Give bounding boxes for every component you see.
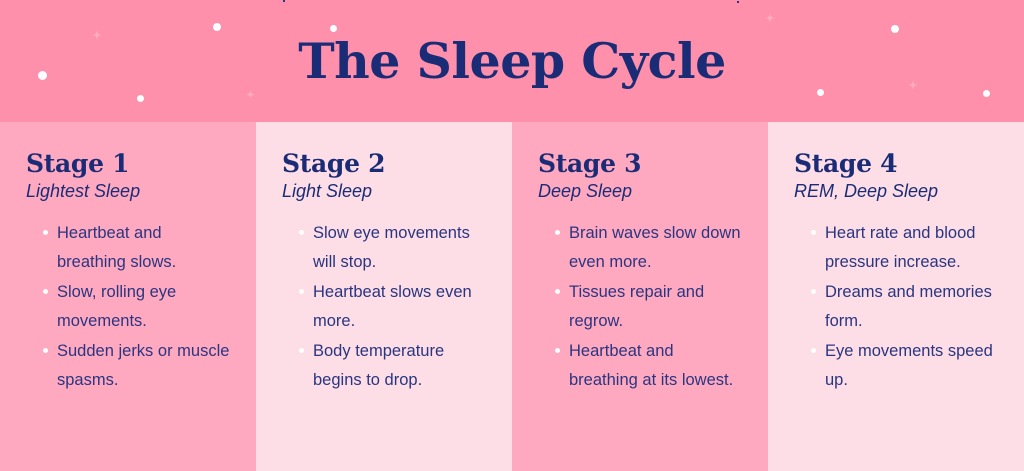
list-item: Heart rate and blood pressure increase. — [811, 219, 1002, 277]
stage-column-4: Stage 4REM, Deep SleepHeart rate and blo… — [768, 122, 1024, 471]
stage-subtitle-2: Light Sleep — [282, 182, 490, 202]
list-item: Eye movements speed up. — [811, 337, 1002, 395]
bullet-text: Eye movements speed up. — [825, 342, 993, 389]
stage-title-1: Stage 1 — [26, 151, 234, 178]
bullet-text: Heartbeat and breathing at its lowest. — [569, 342, 733, 389]
list-item: Dreams and memories form. — [811, 278, 1002, 336]
stage-bullet-list-2: Slow eye movements will stop.Heartbeat s… — [282, 219, 490, 394]
bullet-dot-icon — [555, 348, 560, 353]
list-item: Body temperature begins to drop. — [299, 337, 490, 395]
list-item: Heartbeat slows even more. — [299, 278, 490, 336]
stage-bullet-list-4: Heart rate and blood pressure increase.D… — [794, 219, 1002, 394]
top-artifact-pixel-left — [283, 0, 285, 2]
top-artifact-pixel-right — [737, 1, 739, 3]
bullet-dot-icon — [43, 348, 48, 353]
stage-subtitle-1: Lightest Sleep — [26, 182, 234, 202]
list-item: Heartbeat and breathing at its lowest. — [555, 337, 746, 395]
bullet-text: Slow, rolling eye movements. — [57, 283, 176, 330]
stage-subtitle-4: REM, Deep Sleep — [794, 182, 1002, 202]
bullet-dot-icon — [555, 289, 560, 294]
bullet-text: Heartbeat and breathing slows. — [57, 224, 176, 271]
bullet-dot-icon — [811, 348, 816, 353]
stage-column-2: Stage 2Light SleepSlow eye movements wil… — [256, 122, 512, 471]
stage-subtitle-3: Deep Sleep — [538, 182, 746, 202]
bullet-dot-icon — [43, 230, 48, 235]
bullet-text: Tissues repair and regrow. — [569, 283, 704, 330]
bullet-dot-icon — [299, 289, 304, 294]
header-band: The Sleep Cycle — [0, 0, 1024, 122]
bullet-dot-icon — [811, 230, 816, 235]
stage-bullet-list-1: Heartbeat and breathing slows.Slow, roll… — [26, 219, 234, 394]
page-title: The Sleep Cycle — [0, 0, 1024, 122]
bullet-dot-icon — [299, 230, 304, 235]
stage-title-4: Stage 4 — [794, 151, 1002, 178]
list-item: Slow eye movements will stop. — [299, 219, 490, 277]
bullet-text: Body temperature begins to drop. — [313, 342, 444, 389]
stage-column-3: Stage 3Deep SleepBrain waves slow down e… — [512, 122, 768, 471]
bullet-text: Heart rate and blood pressure increase. — [825, 224, 975, 271]
bullet-text: Brain waves slow down even more. — [569, 224, 741, 271]
bullet-text: Dreams and memories form. — [825, 283, 992, 330]
list-item: Slow, rolling eye movements. — [43, 278, 234, 336]
stage-title-2: Stage 2 — [282, 151, 490, 178]
bullet-text: Slow eye movements will stop. — [313, 224, 470, 271]
bullet-dot-icon — [555, 230, 560, 235]
bullet-text: Heartbeat slows even more. — [313, 283, 472, 330]
bullet-dot-icon — [299, 348, 304, 353]
bullet-text: Sudden jerks or muscle spasms. — [57, 342, 229, 389]
list-item: Tissues repair and regrow. — [555, 278, 746, 336]
stage-title-3: Stage 3 — [538, 151, 746, 178]
list-item: Sudden jerks or muscle spasms. — [43, 337, 234, 395]
list-item: Heartbeat and breathing slows. — [43, 219, 234, 277]
sleep-cycle-infographic: The Sleep Cycle Stage 1Lightest SleepHea… — [0, 0, 1024, 471]
stage-bullet-list-3: Brain waves slow down even more.Tissues … — [538, 219, 746, 394]
stage-columns: Stage 1Lightest SleepHeartbeat and breat… — [0, 122, 1024, 471]
bullet-dot-icon — [811, 289, 816, 294]
bullet-dot-icon — [43, 289, 48, 294]
list-item: Brain waves slow down even more. — [555, 219, 746, 277]
stage-column-1: Stage 1Lightest SleepHeartbeat and breat… — [0, 122, 256, 471]
